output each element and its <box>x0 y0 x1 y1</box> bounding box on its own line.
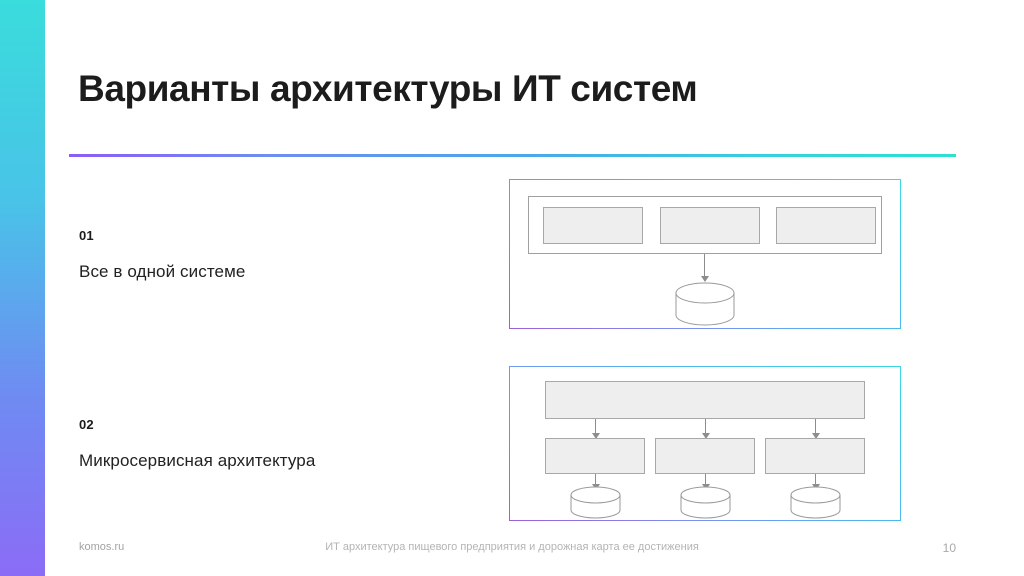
list-item: 02 Микросервисная архитектура <box>79 417 315 471</box>
service-box <box>545 438 645 474</box>
service-box <box>655 438 755 474</box>
diagram-microservices <box>509 366 901 521</box>
item-label: Все в одной системе <box>79 262 245 282</box>
title-divider <box>69 154 956 157</box>
list-item: 01 Все в одной системе <box>79 228 245 282</box>
monolith-module-box <box>660 207 760 244</box>
database-cylinder-icon <box>675 282 735 326</box>
item-number: 02 <box>79 417 315 432</box>
database-cylinder-icon <box>790 486 841 519</box>
slide-canvas: Варианты архитектуры ИТ систем 01 Все в … <box>0 0 1024 576</box>
footer-deck-title: ИТ архитектура пищевого предприятия и до… <box>0 541 1024 553</box>
left-accent-gradient-bar <box>0 0 45 576</box>
monolith-module-box <box>776 207 876 244</box>
monolith-module-box <box>543 207 643 244</box>
item-label: Микросервисная архитектура <box>79 451 315 471</box>
gateway-box <box>545 381 865 419</box>
diagram-monolith <box>509 179 901 329</box>
service-box <box>765 438 865 474</box>
page-title: Варианты архитектуры ИТ систем <box>78 68 697 110</box>
connector-line <box>704 254 705 278</box>
item-number: 01 <box>79 228 245 243</box>
database-cylinder-icon <box>680 486 731 519</box>
footer-page-number: 10 <box>943 541 956 555</box>
database-cylinder-icon <box>570 486 621 519</box>
